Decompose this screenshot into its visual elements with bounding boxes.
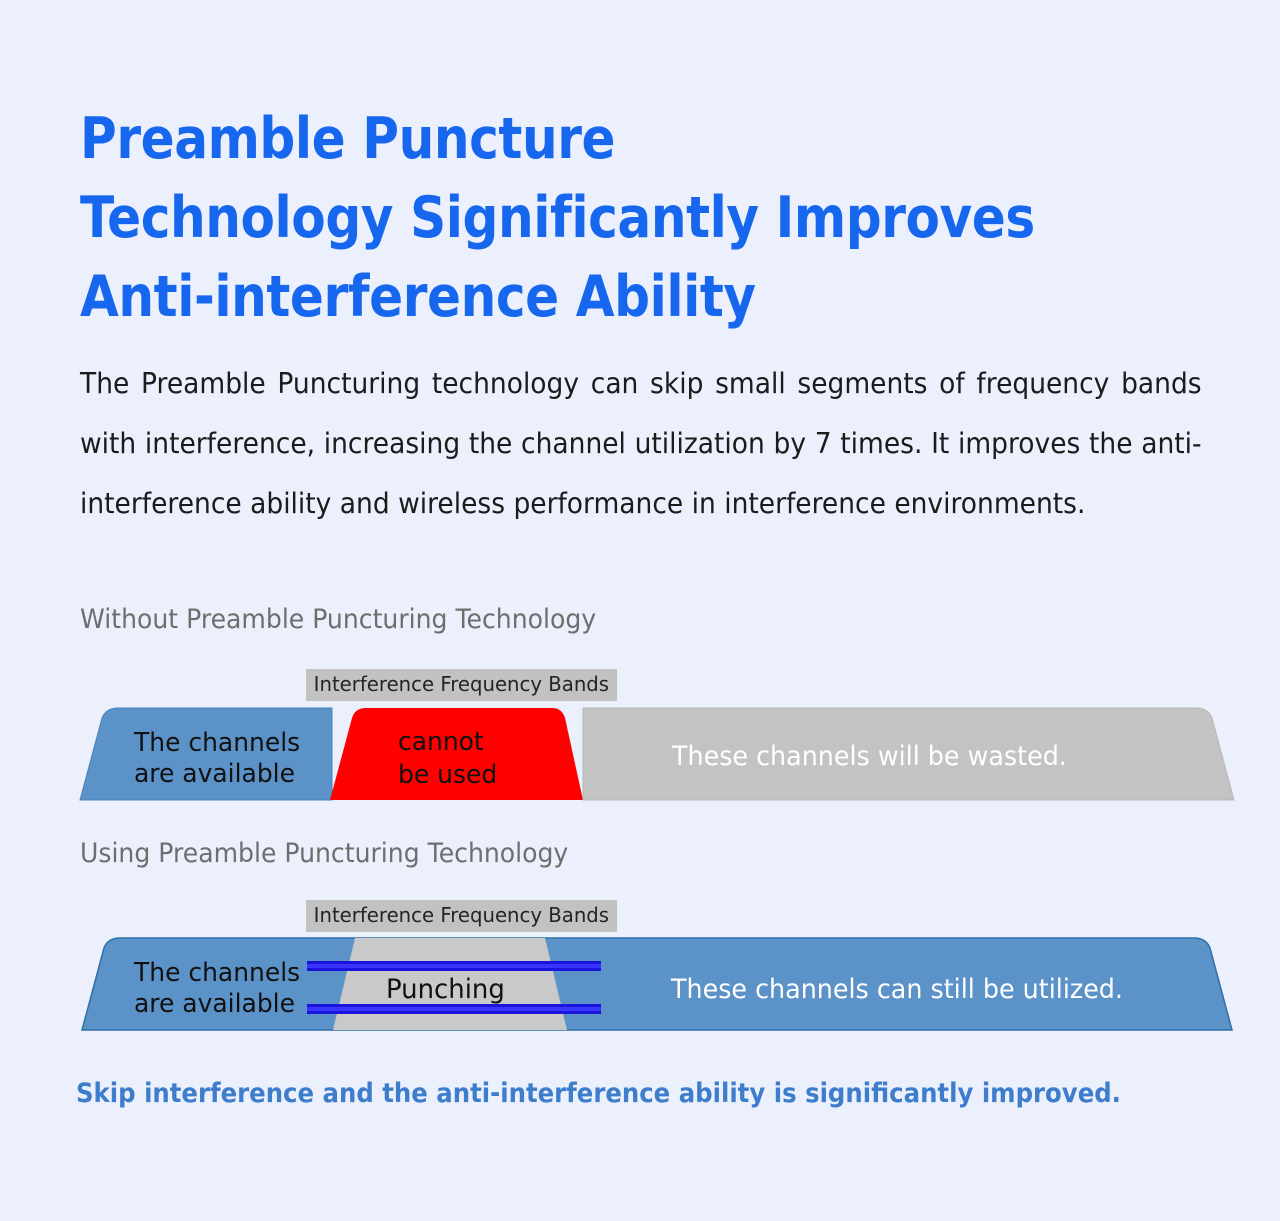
interference-band-label-using: Interference Frequency Bands <box>306 900 617 932</box>
page-title: Preamble Puncture Technology Significant… <box>80 100 1057 337</box>
page-title-line-2: Technology Significantly Improves <box>80 179 1057 258</box>
bar-diagram-using <box>0 930 1280 1040</box>
bar-segment-blocked <box>330 708 583 800</box>
bar-diagram-without <box>0 700 1280 810</box>
section-heading-using: Using Preamble Puncturing Technology <box>80 838 568 870</box>
bar-segment-wasted <box>583 708 1234 800</box>
section-heading-without: Without Preamble Puncturing Technology <box>80 604 596 636</box>
footer-caption: Skip interference and the anti-interfere… <box>76 1076 1121 1112</box>
body-paragraph: The Preamble Puncturing technology can s… <box>80 354 1202 534</box>
infographic-page: Preamble Puncture Technology Significant… <box>0 0 1280 1221</box>
bar-segment-available-using <box>82 938 1232 1030</box>
page-title-line-3: Anti-interference Ability <box>80 258 1057 337</box>
interference-band-label-without: Interference Frequency Bands <box>306 669 617 701</box>
bar-segment-punching <box>333 938 567 1030</box>
bar-segment-available <box>80 708 332 800</box>
page-title-line-1: Preamble Puncture <box>80 100 1057 179</box>
